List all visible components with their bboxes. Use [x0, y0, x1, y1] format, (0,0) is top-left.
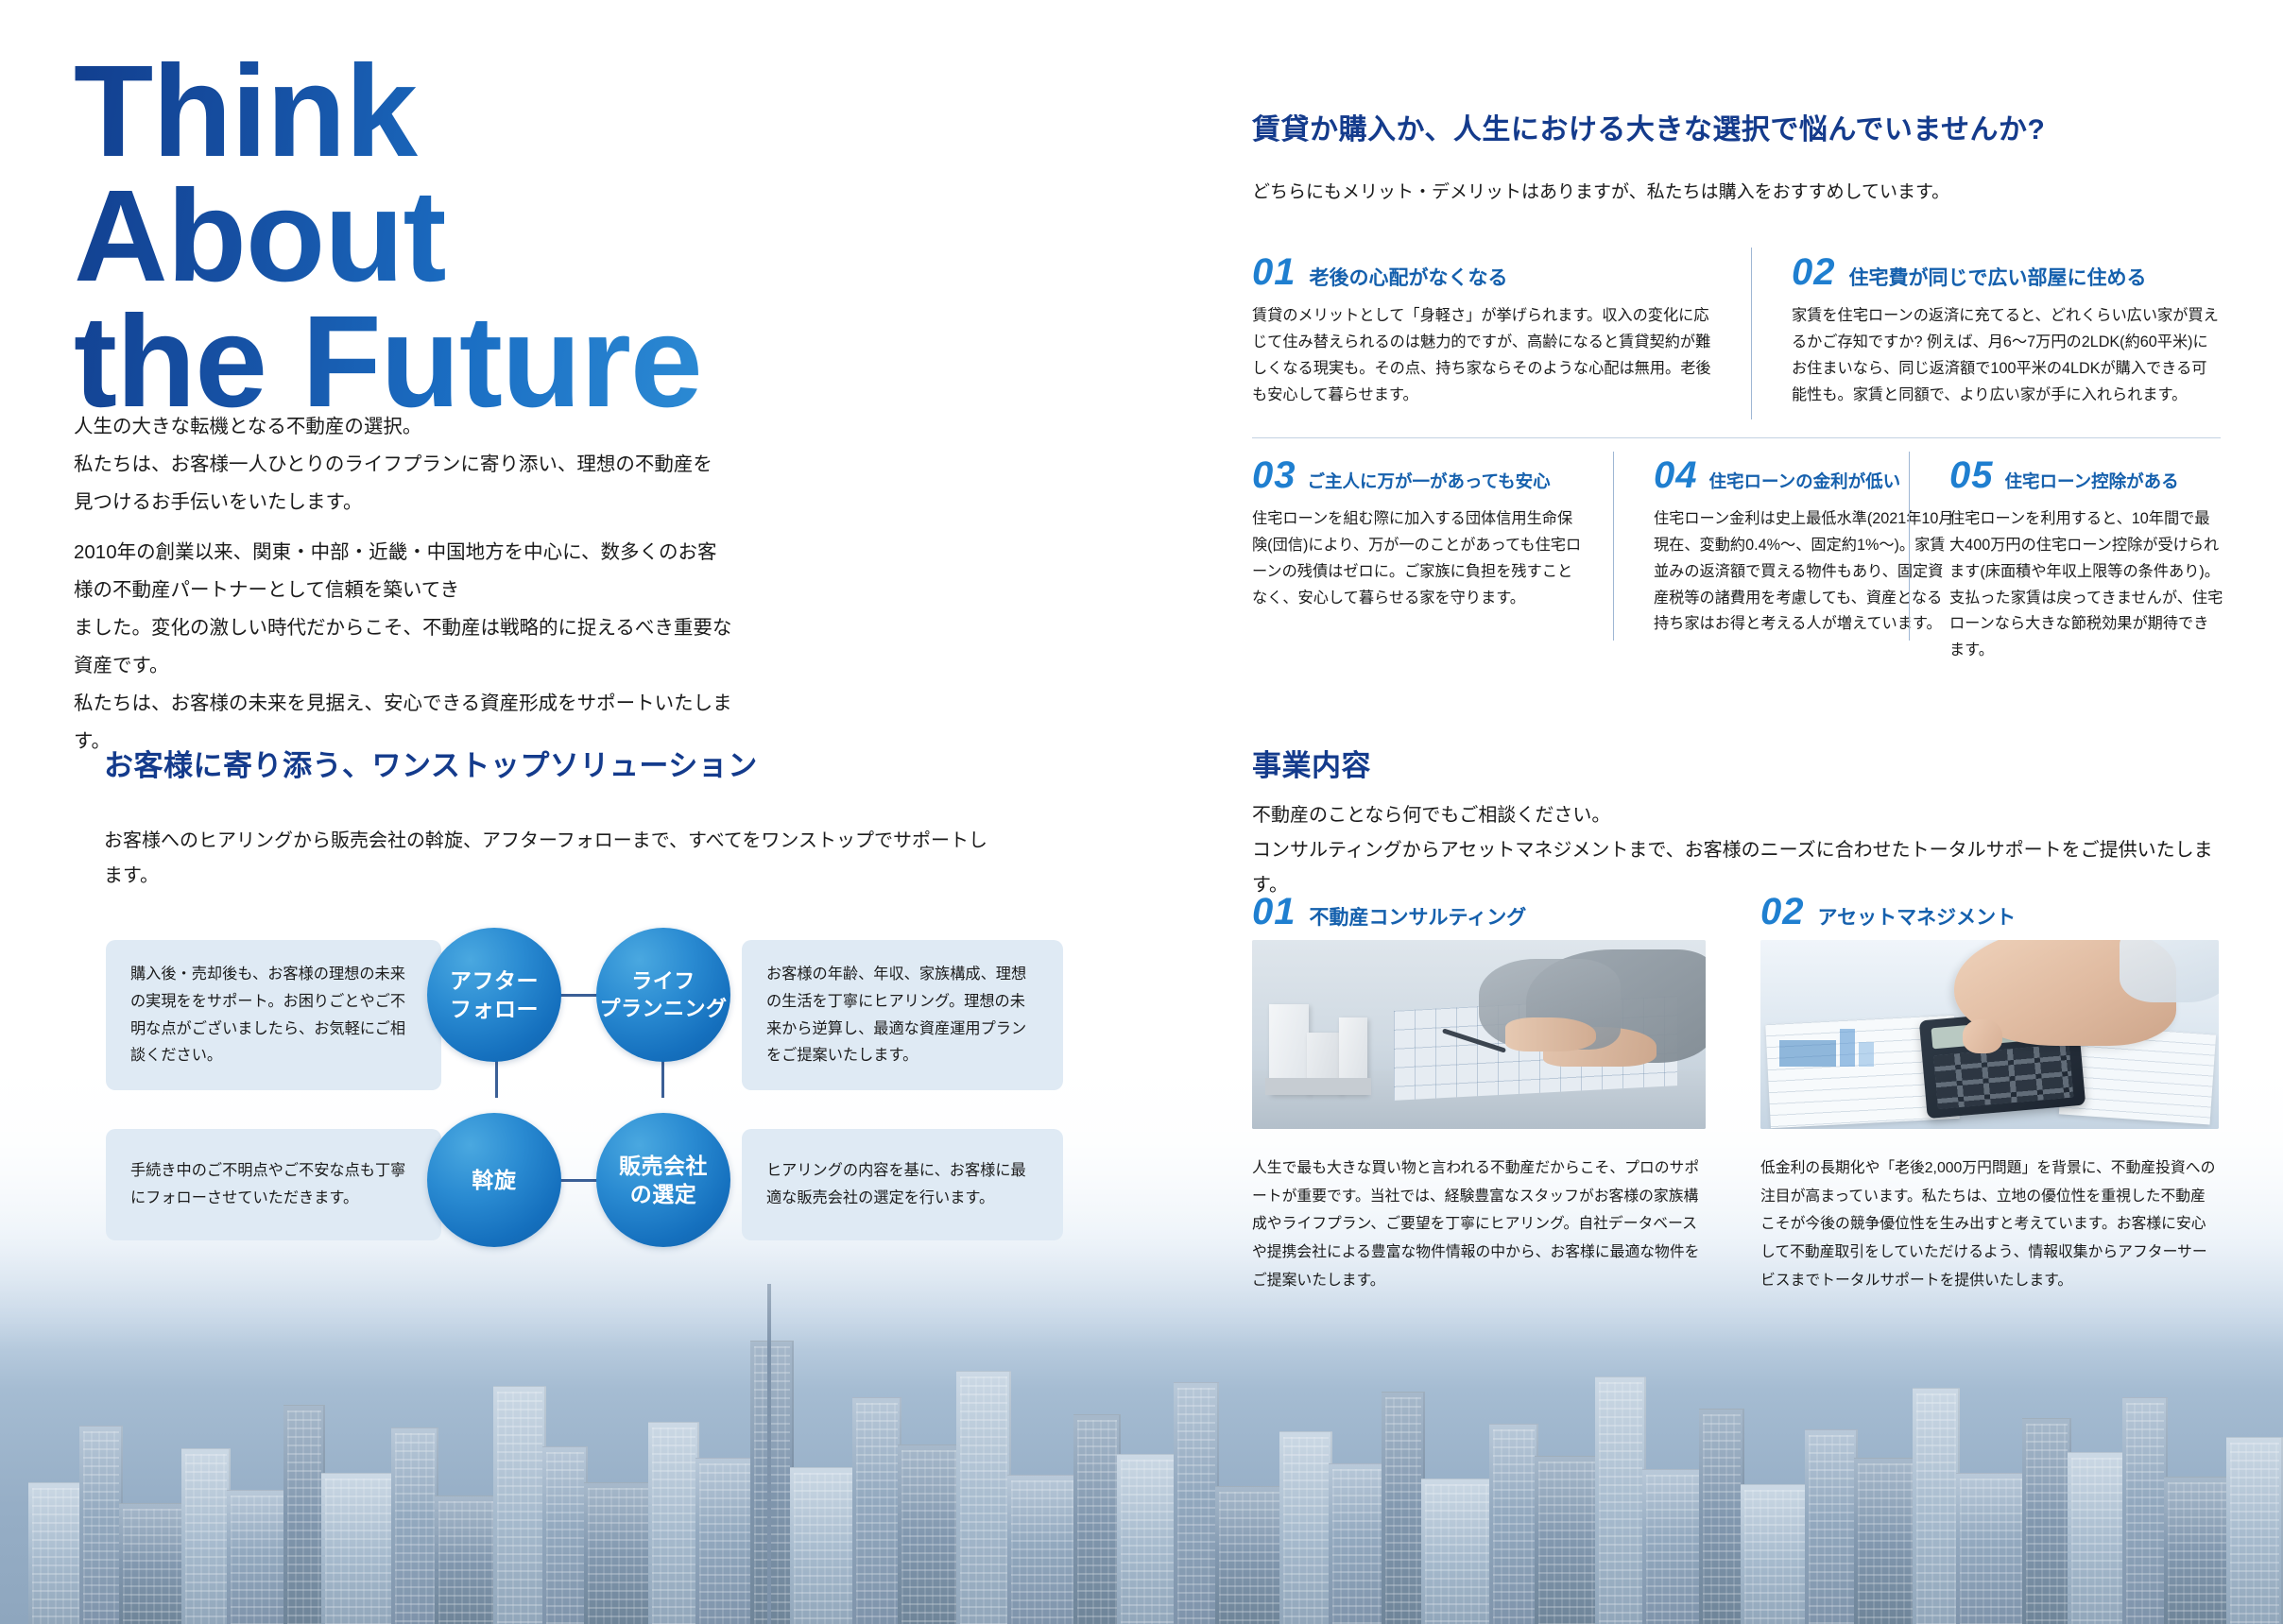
merit-item-03: 03 ご主人に万が一があっても安心 住宅ローンを組む際に加入する団体信用生命保険…: [1252, 456, 1583, 611]
merits-subheading: どちらにもメリット・デメリットはありますが、私たちは購入をおすすめしています。: [1252, 176, 2216, 209]
hero-lead-paragraph-2: 2010年の創業以来、関東・中部・近畿・中国地方を中心に、数多くのお客様の不動産…: [74, 534, 735, 761]
merit-number: 02: [1792, 253, 1836, 291]
merit-number: 04: [1654, 456, 1698, 494]
merit-number: 03: [1252, 456, 1296, 494]
connector-horizontal-top: [560, 994, 598, 997]
business-item-01: 01 不動産コンサルティング: [1252, 893, 1706, 931]
merit-body: 住宅ローンを組む際に加入する団体信用生命保険(団信)により、万が一のことがあって…: [1252, 506, 1583, 611]
merit-item-05: 05 住宅ローン控除がある 住宅ローンを利用すると、10年間で最大400万円の住…: [1949, 456, 2223, 664]
business-number: 02: [1760, 893, 1805, 931]
onestop-note-life-planning: お客様の年齢、年収、家族構成、理想の生活を丁寧にヒアリング。理想の未来から逆算し…: [742, 940, 1063, 1090]
business-item-02: 02 アセットマネジメント: [1760, 893, 2219, 931]
hero-lead-paragraph-1: 人生の大きな転機となる不動産の選択。 私たちは、お客様一人ひとりのライフプランに…: [74, 408, 726, 521]
merit-body: 家賃を住宅ローンの返済に充てると、どれくらい広い家が買えるかご存知ですか? 例え…: [1792, 303, 2219, 408]
business-title: 不動産コンサルティング: [1310, 902, 1527, 931]
business-heading: 事業内容: [1252, 742, 1371, 784]
onestop-note-after-follow: 購入後・売却後も、お客様の理想の未来の実現ををサポート。お困りごとやご不明な点が…: [106, 940, 441, 1090]
merit-title: 住宅ローン控除がある: [2005, 469, 2179, 493]
merit-body: 賃貸のメリットとして「身軽さ」が挙げられます。収入の変化に応じて住み替えられるの…: [1252, 303, 1715, 408]
merit-divider-vertical-3: [1909, 452, 1910, 641]
onestop-note-mediation: 手続き中のご不明点やご不安な点も丁寧にフォローさせていただきます。: [106, 1129, 441, 1240]
onestop-note-vendor-selection: ヒアリングの内容を基に、お客様に最適な販売会社の選定を行います。: [742, 1129, 1063, 1240]
asset-management-photo: [1760, 940, 2219, 1129]
consulting-body: 人生で最も大きな買い物と言われる不動産だからこそ、プロのサポートが重要です。当社…: [1252, 1154, 1706, 1294]
connector-horizontal-bottom: [560, 1179, 598, 1182]
merit-title: 住宅費が同じで広い部屋に住める: [1849, 263, 2147, 291]
merits-heading: 賃貸か購入か、人生における大きな選択で悩んでいませんか?: [1252, 106, 2216, 147]
circle-vendor-selection[interactable]: 販売会社 の選定: [596, 1113, 730, 1247]
circle-mediation[interactable]: 斡旋: [427, 1113, 561, 1247]
merit-item-02: 02 住宅費が同じで広い部屋に住める 家賃を住宅ローンの返済に充てると、どれくら…: [1792, 253, 2219, 408]
circle-after-follow[interactable]: アフター フォロー: [427, 928, 561, 1062]
business-title: アセットマネジメント: [1818, 902, 2017, 931]
merit-title: 住宅ローンの金利が低い: [1709, 469, 1901, 493]
merit-divider-horizontal: [1252, 437, 2221, 438]
merit-item-04: 04 住宅ローンの金利が低い 住宅ローン金利は史上最低水準(2021年10月現在…: [1654, 456, 1956, 638]
merit-title: 老後の心配がなくなる: [1310, 263, 1508, 291]
consulting-photo: [1252, 940, 1706, 1129]
merit-body: 住宅ローンを利用すると、10年間で最大400万円の住宅ローン控除が受けられます(…: [1949, 506, 2223, 664]
merit-item-01: 01 老後の心配がなくなる 賃貸のメリットとして「身軽さ」が挙げられます。収入の…: [1252, 253, 1715, 408]
merit-number: 01: [1252, 253, 1296, 291]
merit-divider-vertical-2: [1613, 452, 1614, 641]
merit-number: 05: [1949, 456, 1994, 494]
merit-body: 住宅ローン金利は史上最低水準(2021年10月現在、変動約0.4%〜、固定約1%…: [1654, 506, 1956, 638]
onestop-subheading: お客様へのヒアリングから販売会社の斡旋、アフターフォローまで、すべてをワンストッ…: [104, 824, 992, 894]
page-title: Think About the Future: [74, 49, 735, 424]
onestop-heading: お客様に寄り添う、ワンストップソリューション: [104, 742, 822, 784]
circle-life-planning[interactable]: ライフ プランニング: [596, 928, 730, 1062]
asset-management-body: 低金利の長期化や「老後2,000万円問題」を背景に、不動産投資への注目が高まって…: [1760, 1154, 2219, 1294]
merit-divider-vertical-1: [1751, 248, 1752, 419]
merit-title: ご主人に万が一があっても安心: [1308, 469, 1551, 493]
business-number: 01: [1252, 893, 1296, 931]
brochure-page: Think About the Future 人生の大きな転機となる不動産の選択…: [0, 0, 2283, 1624]
business-subheading: 不動産のことなら何でもご相談ください。 コンサルティングからアセットマネジメント…: [1252, 798, 2225, 903]
